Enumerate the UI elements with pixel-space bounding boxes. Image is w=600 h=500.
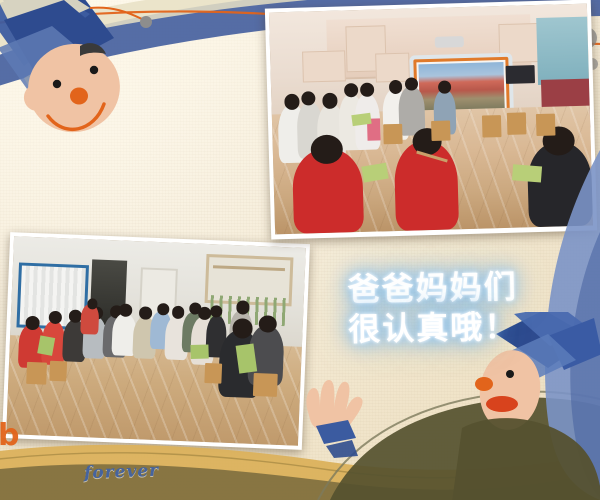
tassel-bead-icon [140, 16, 152, 28]
forever-signature: forever [84, 461, 160, 484]
waving-hand-icon [286, 372, 382, 458]
scrapbook-canvas: b [0, 0, 600, 500]
nose-icon [70, 88, 88, 105]
graduate-boy-left [0, 0, 154, 172]
graduate-boy-right [452, 312, 600, 500]
mouth-fill-icon [486, 396, 518, 412]
eye-left-icon [53, 80, 61, 88]
nose-right-icon [475, 377, 493, 391]
eye-right-char-icon [506, 370, 514, 378]
eye-right-icon [90, 66, 98, 74]
body-right-icon [452, 418, 600, 500]
